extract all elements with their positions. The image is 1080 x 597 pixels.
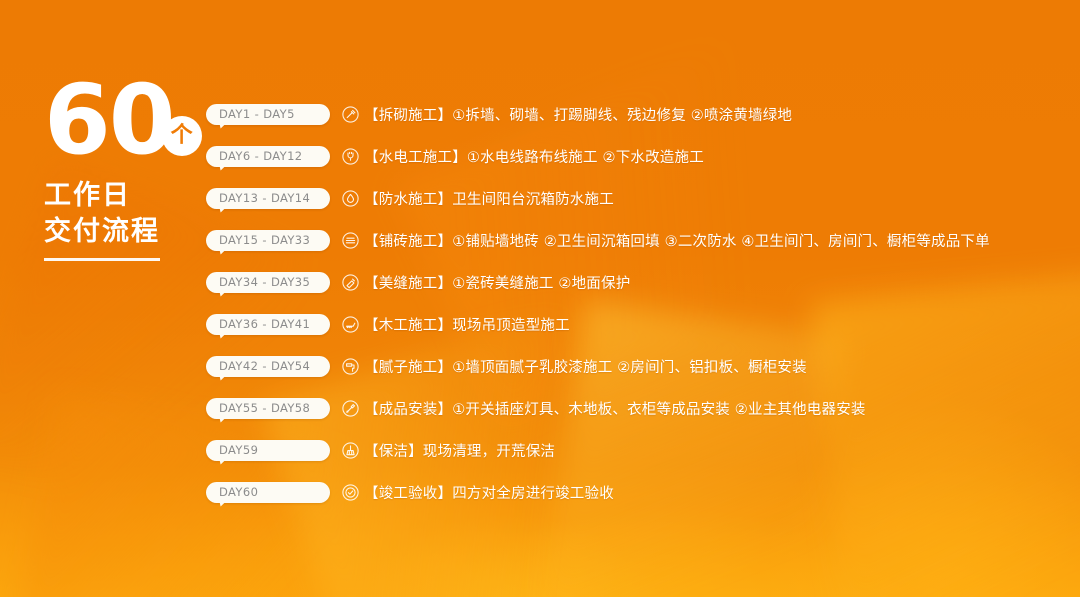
day-range-label: DAY6 - DAY12: [206, 149, 303, 163]
timeline-row: DAY42 - DAY54【腻子施工】①墙顶面腻子乳胶漆施工 ②房间门、铝扣板、…: [206, 345, 1070, 387]
day-range-label: DAY36 - DAY41: [206, 317, 310, 331]
day-range-pill[interactable]: DAY6 - DAY12: [206, 146, 330, 167]
day-range-pill[interactable]: DAY13 - DAY14: [206, 188, 330, 209]
day-range-pill[interactable]: DAY55 - DAY58: [206, 398, 330, 419]
timeline-row: DAY34 - DAY35【美缝施工】①瓷砖美缝施工 ②地面保护: [206, 261, 1070, 303]
day-range-pill[interactable]: DAY15 - DAY33: [206, 230, 330, 251]
headline-number-row: 60 个: [44, 78, 209, 162]
stage-description: 【水电工施工】①水电线路布线施工 ②下水改造施工: [364, 146, 704, 167]
day-range-pill[interactable]: DAY36 - DAY41: [206, 314, 330, 335]
day-range-label: DAY55 - DAY58: [206, 401, 310, 415]
broom-clean-icon: [342, 442, 359, 459]
headline-subtitle-line2: 交付流程: [44, 214, 209, 250]
timeline-row: DAY13 - DAY14【防水施工】卫生间阳台沉箱防水施工: [206, 177, 1070, 219]
timeline-row: DAY1 - DAY5【拆砌施工】①拆墙、砌墙、打踢脚线、残边修复 ②喷涂黄墙绿…: [206, 93, 1070, 135]
stage-description: 【木工施工】现场吊顶造型施工: [364, 314, 570, 335]
day-range-pill[interactable]: DAY60: [206, 482, 330, 503]
day-range-pill[interactable]: DAY59: [206, 440, 330, 461]
headline-subtitle-line1: 工作日: [44, 178, 209, 214]
day-range-label: DAY1 - DAY5: [206, 107, 295, 121]
paint-roller-icon: [342, 358, 359, 375]
stage-description: 【拆砌施工】①拆墙、砌墙、打踢脚线、残边修复 ②喷涂黄墙绿地: [364, 104, 792, 125]
waterdrop-shield-icon: [342, 190, 359, 207]
grout-trowel-icon: [342, 274, 359, 291]
timeline-row: DAY36 - DAY41【木工施工】现场吊顶造型施工: [206, 303, 1070, 345]
headline-unit-badge: 个: [162, 116, 202, 156]
timeline-row: DAY55 - DAY58【成品安装】①开关插座灯具、木地板、衣柜等成品安装 ②…: [206, 387, 1070, 429]
day-range-label: DAY34 - DAY35: [206, 275, 310, 289]
day-range-label: DAY60: [206, 485, 258, 499]
stage-description: 【美缝施工】①瓷砖美缝施工 ②地面保护: [364, 272, 630, 293]
saw-wood-icon: [342, 316, 359, 333]
checkmark-seal-icon: [342, 484, 359, 501]
headline-number: 60: [44, 78, 174, 162]
day-range-label: DAY42 - DAY54: [206, 359, 310, 373]
plug-wiring-icon: [342, 148, 359, 165]
poster-canvas: 60 个 工作日 交付流程 DAY1 - DAY5【拆砌施工】①拆墙、砌墙、打踢…: [0, 0, 1080, 597]
stage-description: 【铺砖施工】①铺贴墙地砖 ②卫生间沉箱回填 ③二次防水 ④卫生间门、房间门、橱柜…: [364, 230, 990, 251]
headline-subtitle: 工作日 交付流程: [44, 178, 209, 249]
timeline-rows: DAY1 - DAY5【拆砌施工】①拆墙、砌墙、打踢脚线、残边修复 ②喷涂黄墙绿…: [206, 93, 1070, 513]
timeline-row: DAY59【保洁】现场清理，开荒保洁: [206, 429, 1070, 471]
day-range-label: DAY59: [206, 443, 258, 457]
headline-underline: [44, 258, 160, 261]
screwdriver-install-icon: [342, 400, 359, 417]
day-range-label: DAY15 - DAY33: [206, 233, 310, 247]
day-range-pill[interactable]: DAY34 - DAY35: [206, 272, 330, 293]
day-range-label: DAY13 - DAY14: [206, 191, 310, 205]
timeline-row: DAY15 - DAY33【铺砖施工】①铺贴墙地砖 ②卫生间沉箱回填 ③二次防水…: [206, 219, 1070, 261]
timeline-row: DAY6 - DAY12【水电工施工】①水电线路布线施工 ②下水改造施工: [206, 135, 1070, 177]
tile-stack-icon: [342, 232, 359, 249]
stage-description: 【成品安装】①开关插座灯具、木地板、衣柜等成品安装 ②业主其他电器安装: [364, 398, 866, 419]
stage-description: 【腻子施工】①墙顶面腻子乳胶漆施工 ②房间门、铝扣板、橱柜安装: [364, 356, 807, 377]
headline-block: 60 个 工作日 交付流程: [44, 78, 209, 261]
stage-description: 【保洁】现场清理，开荒保洁: [364, 440, 555, 461]
hammer-wall-icon: [342, 106, 359, 123]
timeline-row: DAY60【竣工验收】四方对全房进行竣工验收: [206, 471, 1070, 513]
stage-description: 【竣工验收】四方对全房进行竣工验收: [364, 482, 614, 503]
day-range-pill[interactable]: DAY1 - DAY5: [206, 104, 330, 125]
day-range-pill[interactable]: DAY42 - DAY54: [206, 356, 330, 377]
stage-description: 【防水施工】卫生间阳台沉箱防水施工: [364, 188, 614, 209]
